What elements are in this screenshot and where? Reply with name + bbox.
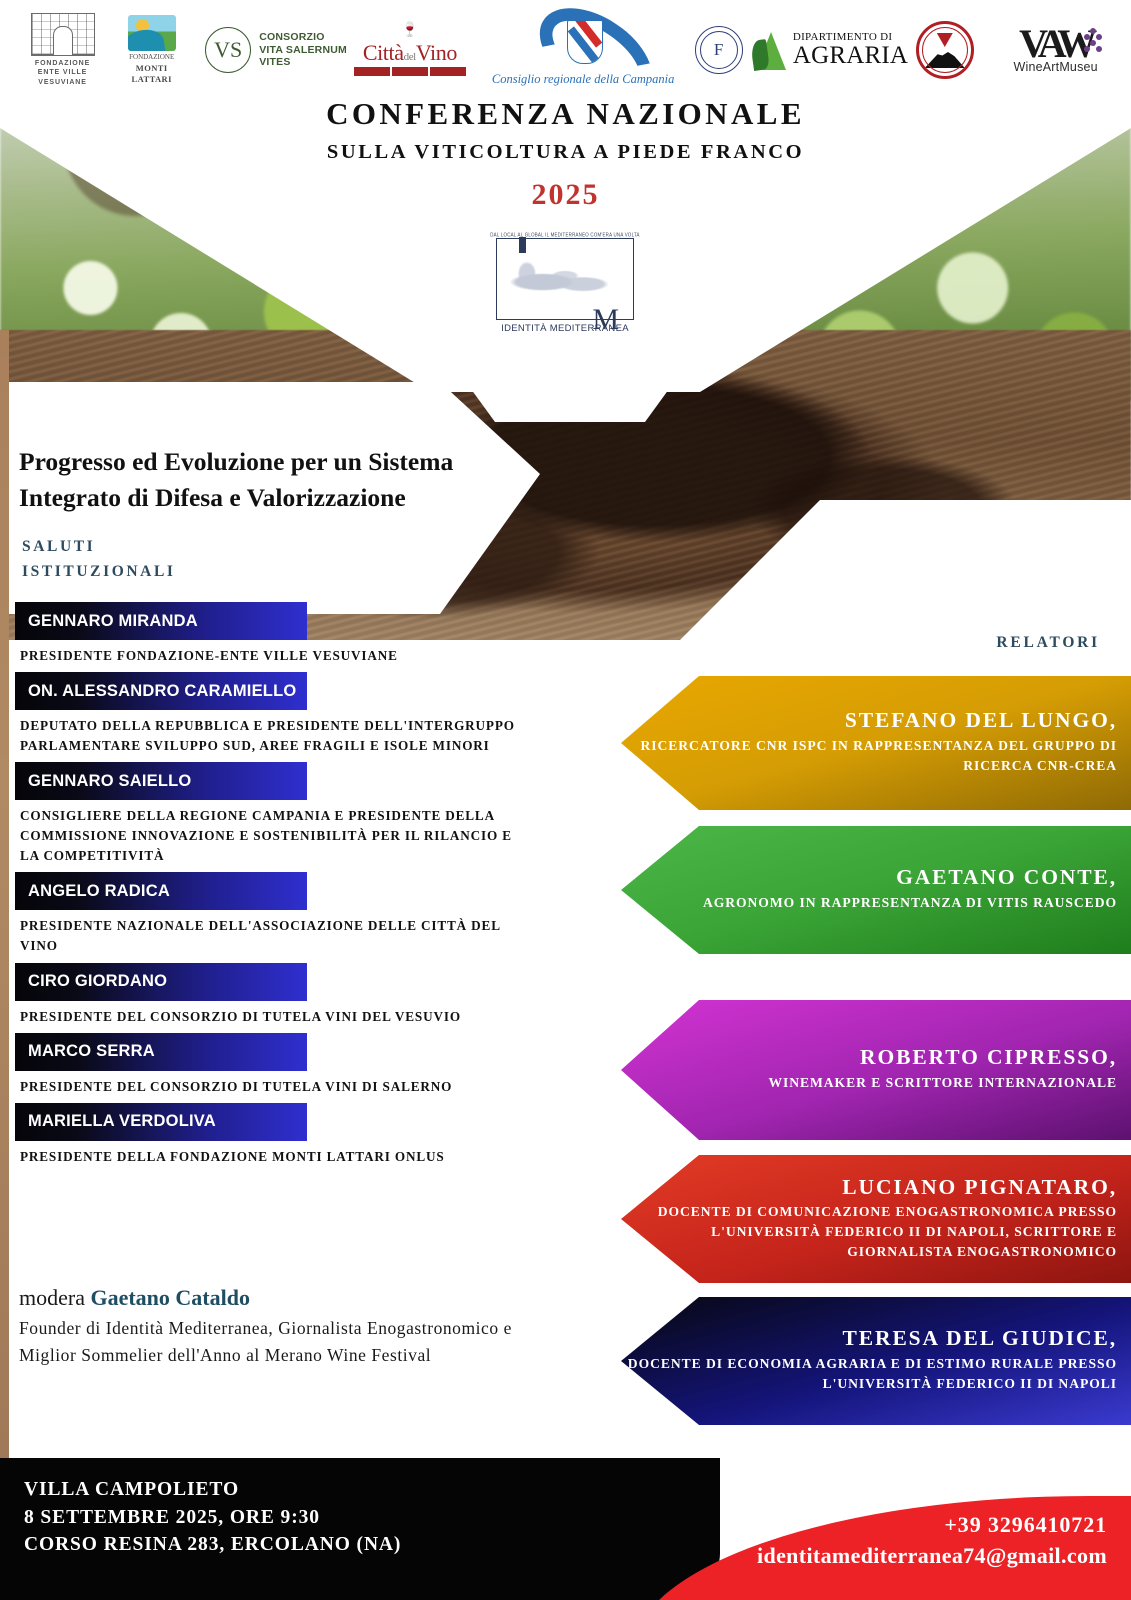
relatore-name: ROBERTO CIPRESSO, (860, 1045, 1117, 1071)
contact-details: +39 3296410721 identitamediterranea74@gm… (757, 1512, 1107, 1569)
relatore-arrow: TERESA DEL GIUDICE, DOCENTE DI ECONOMIA … (621, 1297, 1131, 1425)
venue-address: CORSO RESINA 283, ERCOLANO (NA) (24, 1531, 401, 1559)
relatore-role: RICERCATORE CNR ISPC IN RAPPRESENTANZA D… (621, 736, 1117, 775)
relatore-name: STEFANO DEL LUNGO, (845, 708, 1117, 734)
contact-email[interactable]: identitamediterranea74@gmail.com (757, 1543, 1107, 1569)
relatore-arrow: LUCIANO PIGNATARO, DOCENTE DI COMUNICAZI… (621, 1155, 1131, 1283)
relatore-arrow: GAETANO CONTE, AGRONOMO IN RAPPRESENTANZ… (621, 826, 1131, 954)
relatore-arrow: STEFANO DEL LUNGO, RICERCATORE CNR ISPC … (621, 676, 1131, 810)
conference-poster: FONDAZIONE ENTE VILLE VESUVIANE FONDAZIO… (0, 0, 1131, 1600)
relatore-role: AGRONOMO IN RAPPRESENTANZA DI VITIS RAUS… (703, 893, 1117, 913)
contact-phone[interactable]: +39 3296410721 (757, 1512, 1107, 1538)
relatori-list: STEFANO DEL LUNGO, RICERCATORE CNR ISPC … (0, 0, 1131, 1600)
relatore-name: LUCIANO PIGNATARO, (842, 1175, 1117, 1201)
relatore-name: TERESA DEL GIUDICE, (843, 1326, 1117, 1352)
relatore-role: WINEMAKER E SCRITTORE INTERNAZIONALE (768, 1073, 1117, 1093)
venue-details: VILLA CAMPOLIETO 8 SETTEMBRE 2025, ORE 9… (24, 1476, 401, 1559)
relatore-arrow: ROBERTO CIPRESSO, WINEMAKER E SCRITTORE … (621, 1000, 1131, 1140)
footer: VILLA CAMPOLIETO 8 SETTEMBRE 2025, ORE 9… (0, 1458, 1131, 1600)
relatore-role: DOCENTE DI COMUNICAZIONE ENOGASTRONOMICA… (621, 1202, 1117, 1261)
relatore-role: DOCENTE DI ECONOMIA AGRARIA E DI ESTIMO … (621, 1354, 1117, 1393)
venue-datetime: 8 SETTEMBRE 2025, ORE 9:30 (24, 1504, 401, 1532)
venue-name: VILLA CAMPOLIETO (24, 1476, 401, 1504)
relatore-name: GAETANO CONTE, (896, 865, 1117, 891)
